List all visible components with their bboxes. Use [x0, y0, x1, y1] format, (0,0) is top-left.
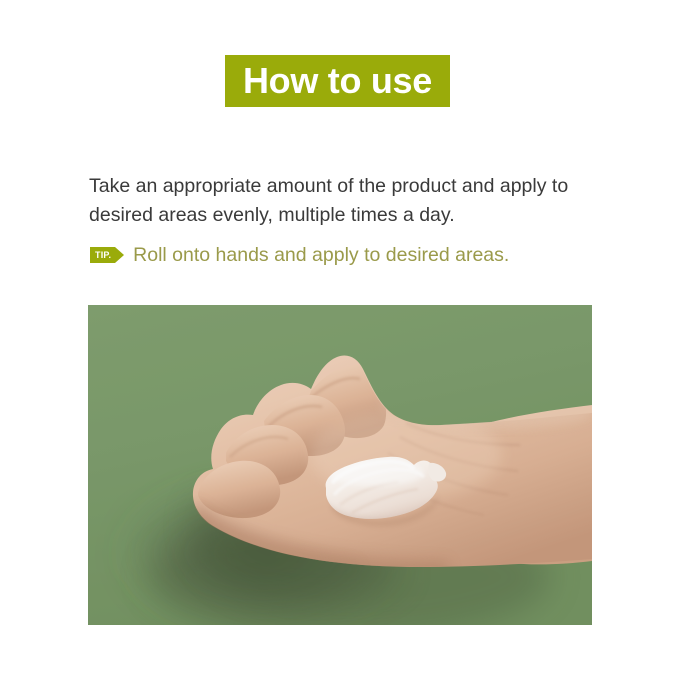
tip-badge: TIP.	[90, 247, 124, 263]
tip-row: TIP. Roll onto hands and apply to desire…	[90, 243, 509, 267]
instructions-paragraph: Take an appropriate amount of the produc…	[89, 172, 599, 230]
page-title: How to use	[243, 63, 432, 99]
photo-vignette	[88, 305, 592, 625]
tip-text: Roll onto hands and apply to desired are…	[133, 243, 509, 267]
page-root: How to use Take an appropriate amount of…	[0, 0, 679, 679]
page-title-banner: How to use	[225, 55, 450, 107]
arrow-right-icon	[115, 247, 124, 263]
hand-cream-illustration	[88, 305, 592, 625]
tip-badge-label: TIP.	[90, 247, 115, 263]
instructions-line-1: Take an appropriate amount of the produc…	[89, 172, 599, 201]
hand-cream-photo	[88, 305, 592, 625]
instructions-line-2: desired areas evenly, multiple times a d…	[89, 201, 599, 230]
